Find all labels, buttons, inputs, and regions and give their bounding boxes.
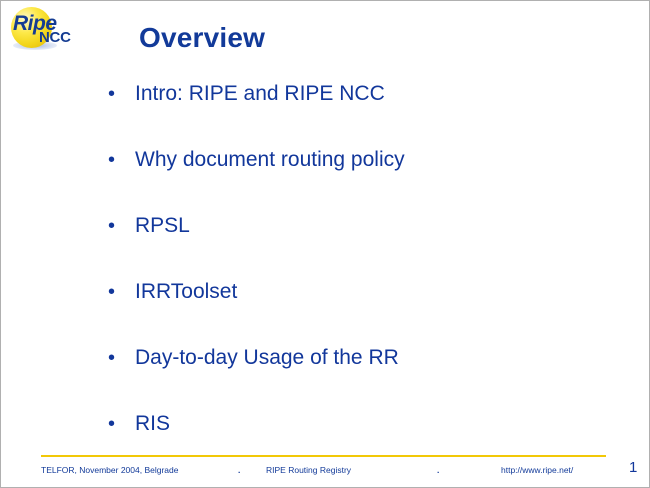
logo-secondary-text: NCC [39,30,71,45]
list-item-label: IRRToolset [135,279,237,305]
footer-divider [41,455,606,457]
footer-separator: . [238,464,240,476]
presentation-slide: Ripe NCC Overview • Intro: RIPE and RIPE… [0,0,650,488]
list-item-label: Why document routing policy [135,147,405,173]
list-item: • IRRToolset [105,279,625,345]
list-item: • RPSL [105,213,625,279]
bullet-marker-icon: • [105,345,135,371]
list-item-label: RPSL [135,213,190,239]
footer-event-label: TELFOR, November 2004, Belgrade [41,464,178,476]
list-item-label: RIS [135,411,170,437]
bullet-list: • Intro: RIPE and RIPE NCC • Why documen… [105,81,625,477]
list-item: • Day-to-day Usage of the RR [105,345,625,411]
footer-url-link[interactable]: http://www.ripe.net/ [501,464,573,476]
footer-subject-label: RIPE Routing Registry [266,464,351,476]
bullet-marker-icon: • [105,411,135,437]
bullet-marker-icon: • [105,81,135,107]
footer-separator: . [437,464,439,476]
list-item-label: Day-to-day Usage of the RR [135,345,399,371]
footer: TELFOR, November 2004, Belgrade . RIPE R… [1,462,650,482]
page-title: Overview [139,22,265,54]
ripe-ncc-logo: Ripe NCC [5,3,83,55]
bullet-marker-icon: • [105,279,135,305]
page-number: 1 [629,459,637,477]
list-item: • Why document routing policy [105,147,625,213]
list-item-label: Intro: RIPE and RIPE NCC [135,81,385,107]
list-item: • Intro: RIPE and RIPE NCC [105,81,625,147]
bullet-marker-icon: • [105,213,135,239]
bullet-marker-icon: • [105,147,135,173]
